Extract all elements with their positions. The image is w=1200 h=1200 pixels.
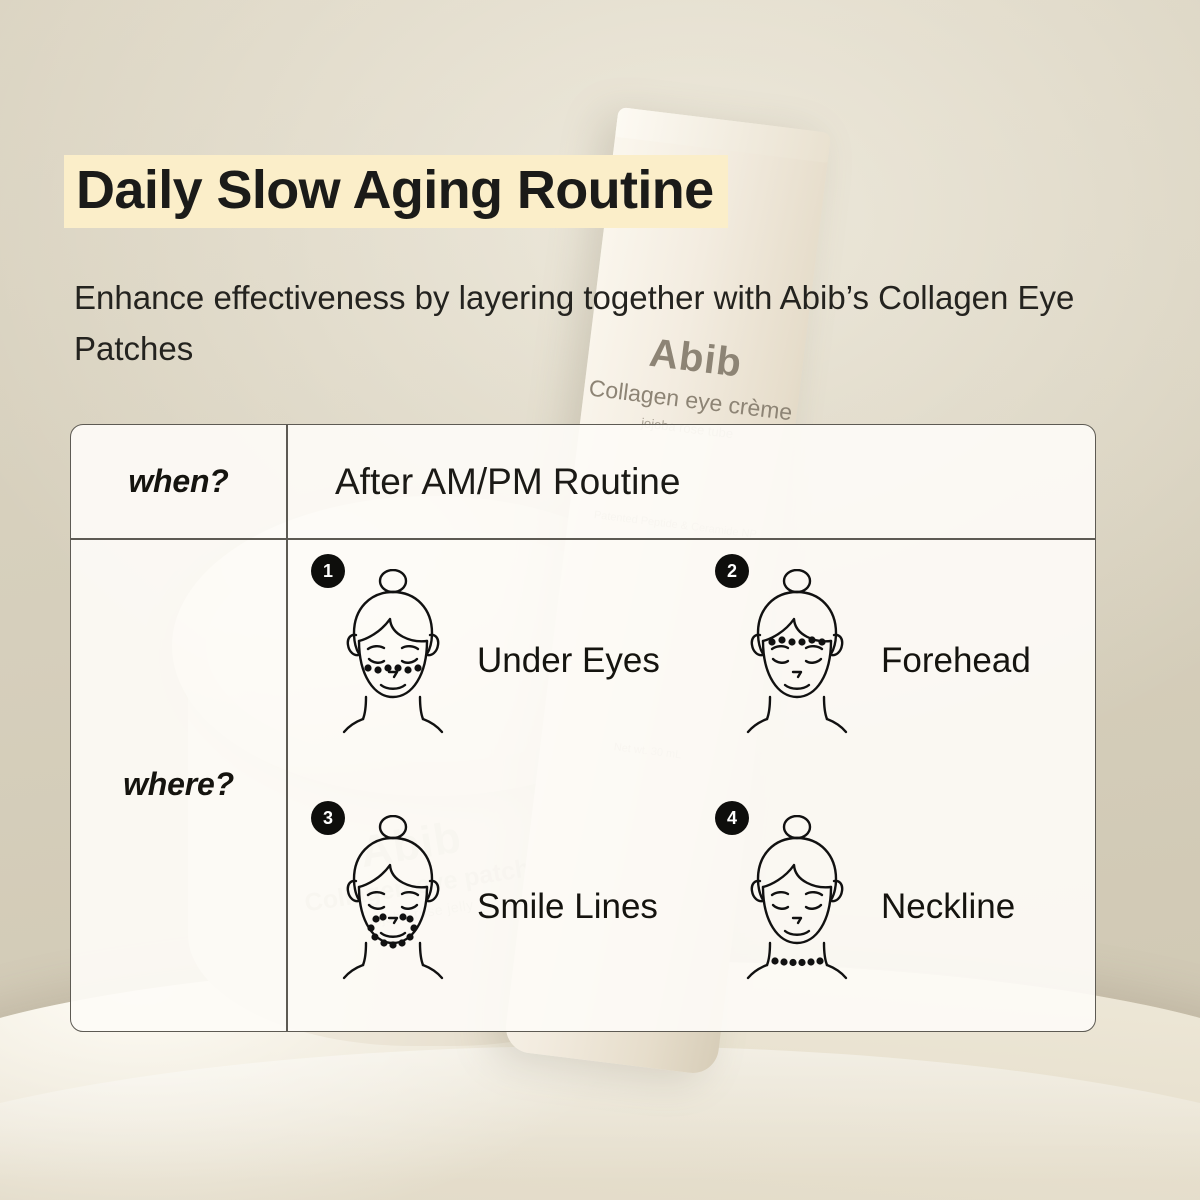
step-badge-3: 3 [311, 801, 345, 835]
face-icon-smile-lines [323, 815, 463, 1000]
table-cell-where-label: where? [71, 538, 286, 1031]
face-icon-forehead [727, 569, 867, 754]
table-cell-when-value: After AM/PM Routine [287, 425, 1095, 538]
page-subtitle: Enhance effectiveness by layering togeth… [74, 272, 1084, 374]
routine-table-card: when? After AM/PM Routine where? 1 [70, 424, 1096, 1032]
step-under-eyes: 1 [287, 538, 691, 785]
page-title: Daily Slow Aging Routine [76, 163, 714, 218]
page-title-highlight: Daily Slow Aging Routine [64, 155, 728, 228]
table-cell-when-label: when? [71, 425, 286, 538]
step-badge-1: 1 [311, 554, 345, 588]
when-value: After AM/PM Routine [335, 461, 680, 503]
step-label-1: Under Eyes [477, 638, 660, 685]
face-icon-under-eyes [323, 569, 463, 754]
application-dots-neckline [771, 958, 823, 967]
step-smile-lines: 3 [287, 785, 691, 1032]
step-label-4: Neckline [881, 884, 1015, 931]
application-steps-grid: 1 [287, 538, 1095, 1031]
step-label-3: Smile Lines [477, 884, 658, 931]
promo-graphic: Abib Collagen eye patch jojoba rose jell… [0, 0, 1200, 1200]
pedestal-rim [0, 1046, 1200, 1200]
step-forehead: 2 [691, 538, 1095, 785]
where-label: where? [123, 766, 234, 803]
step-neckline: 4 [691, 785, 1095, 1032]
step-badge-4: 4 [715, 801, 749, 835]
face-icon-neckline [727, 815, 867, 1000]
when-label: when? [128, 463, 228, 500]
step-label-2: Forehead [881, 638, 1031, 685]
step-badge-2: 2 [715, 554, 749, 588]
